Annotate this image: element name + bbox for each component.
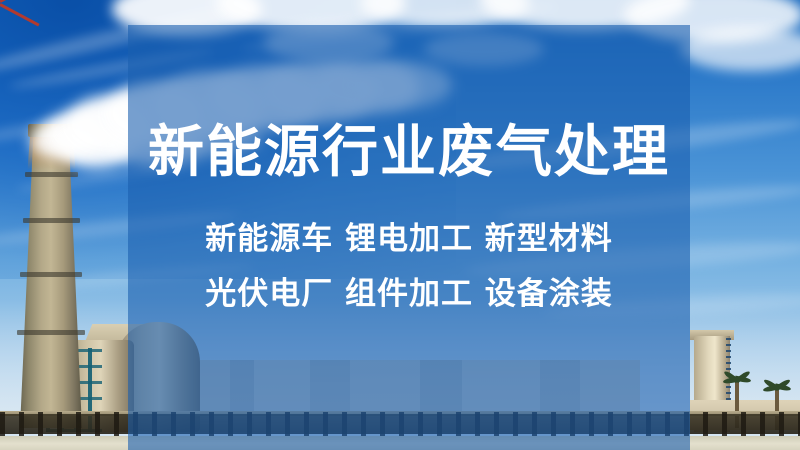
banner-title: 新能源行业废气处理 xyxy=(128,125,690,181)
banner-text-layer: 新能源行业废气处理 新能源车 锂电加工 新型材料 光伏电厂 组件加工 设备涂装 xyxy=(128,25,690,450)
smokestack-band xyxy=(20,272,82,277)
smokestack-band xyxy=(23,218,80,223)
smokestack-band xyxy=(25,172,78,177)
banner-subtitle-line-1: 新能源车 锂电加工 新型材料 xyxy=(128,224,690,255)
promo-banner: 新能源行业废气处理 新能源车 锂电加工 新型材料 光伏电厂 组件加工 设备涂装 xyxy=(0,0,800,450)
smokestack-band xyxy=(17,330,85,335)
banner-subtitle-line-2: 光伏电厂 组件加工 设备涂装 xyxy=(128,279,690,310)
